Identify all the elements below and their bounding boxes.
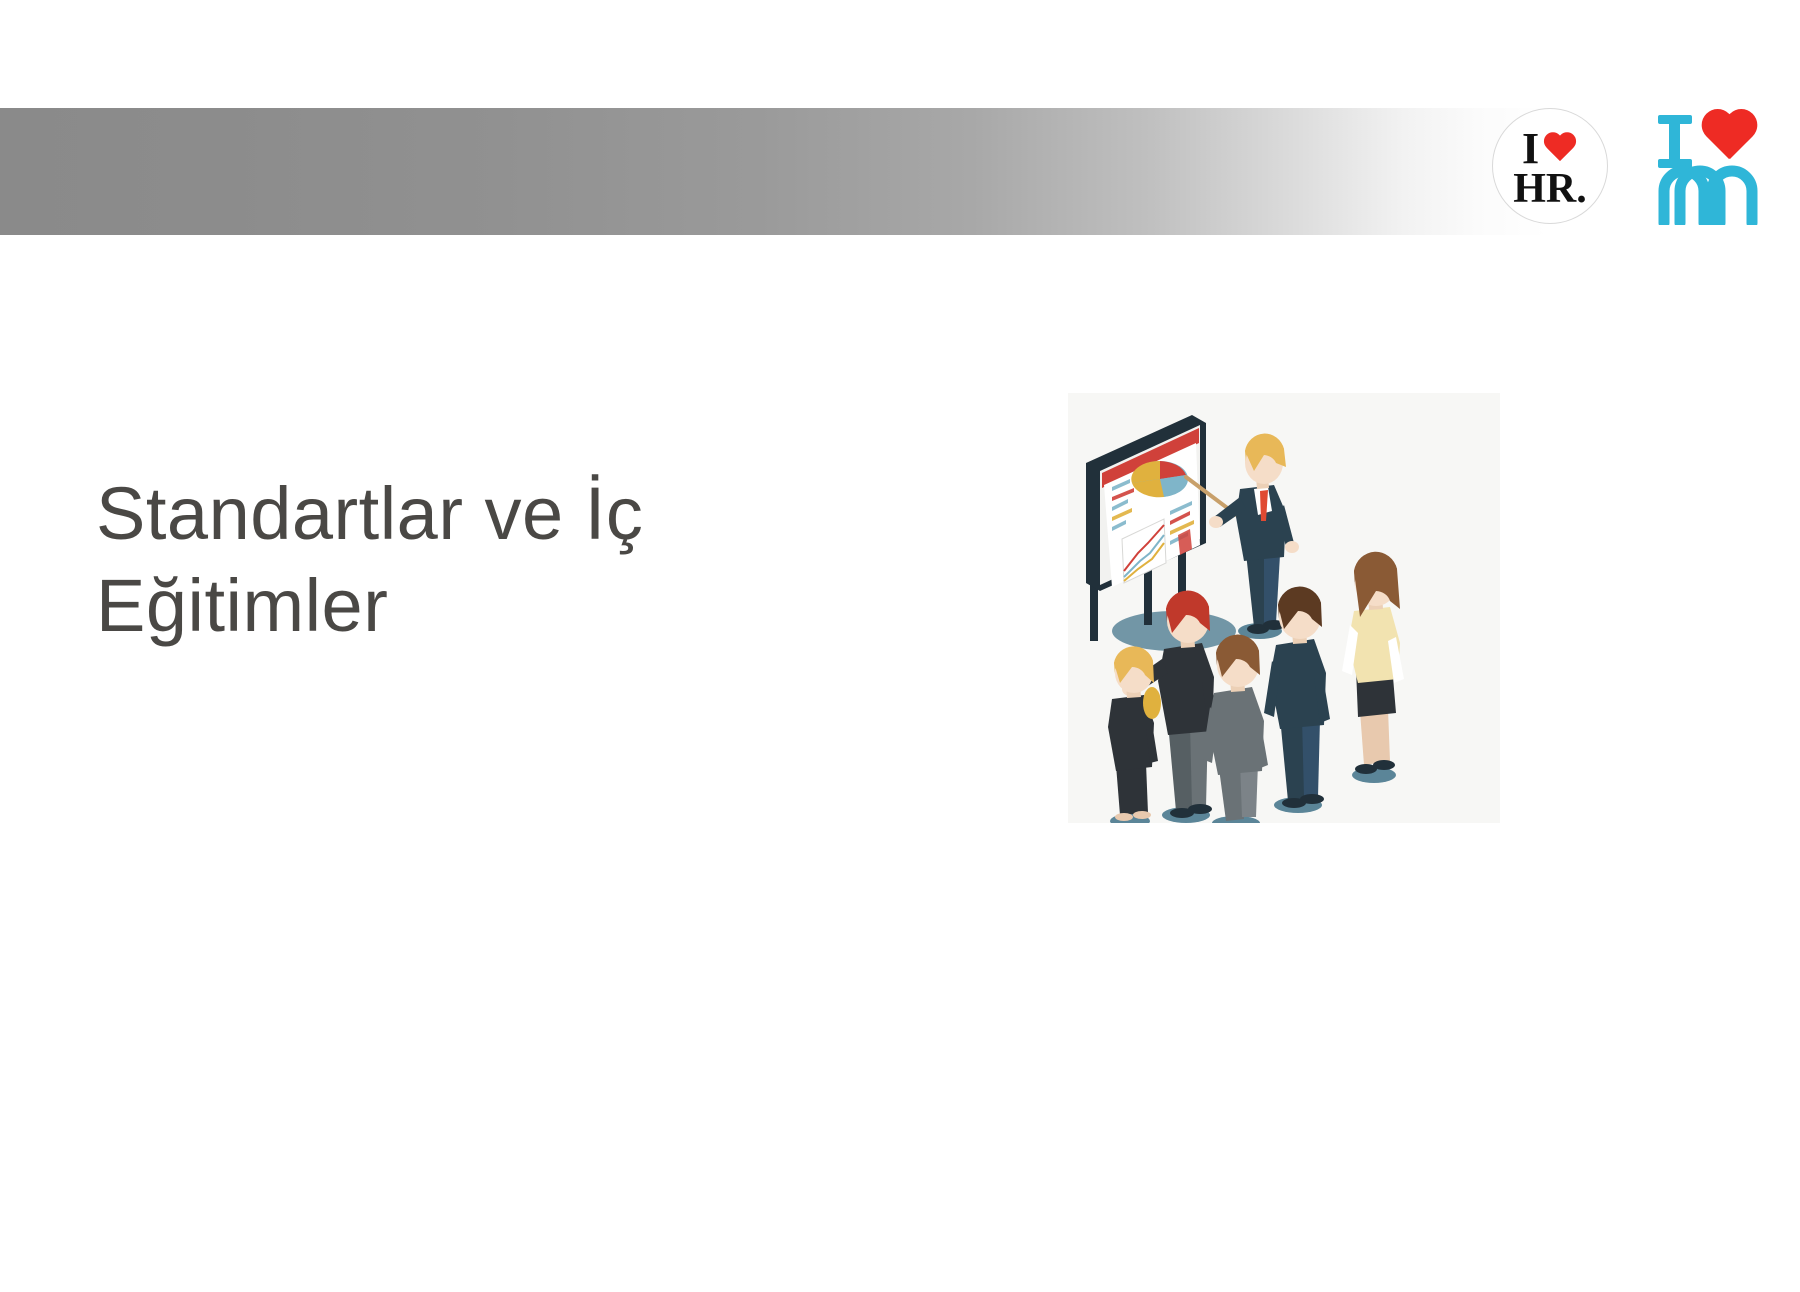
heart-icon (1698, 111, 1760, 167)
i-love-hr-logo: I HR. (1492, 108, 1608, 224)
i-love-hr-letter-i: I (1522, 130, 1539, 168)
slide-title: Standartlar ve İç Eğitimler (96, 468, 856, 652)
i-love-hr-letters-hr: HR. (1513, 169, 1587, 209)
pie-chart (1131, 461, 1188, 497)
training-illustration (1068, 393, 1500, 823)
title-line-1: Standartlar ve İç (96, 468, 856, 560)
i-love-m-logo (1656, 107, 1768, 225)
logo-row: I HR. (1492, 96, 1768, 236)
title-line-2: Eğitimler (96, 560, 856, 652)
heart-icon (1542, 133, 1578, 165)
letter-m-mark (1656, 163, 1768, 230)
slide-canvas: I HR. Standartlar ve İç Eğitimler (0, 0, 1800, 1292)
i-love-hr-top-row: I (1522, 127, 1578, 171)
